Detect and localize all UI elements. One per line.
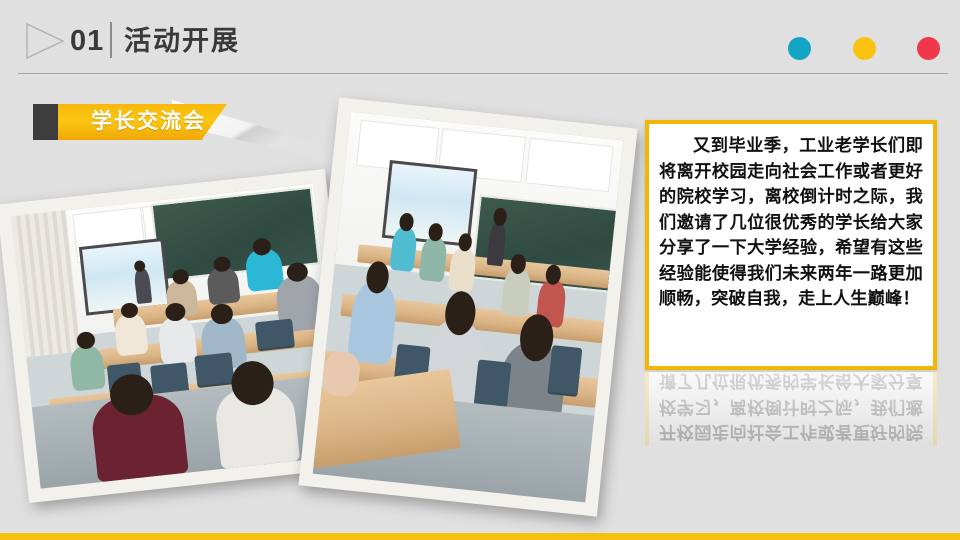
dot-red-icon — [917, 37, 940, 60]
textbox-reflection: 又到毕业季，工业老学长们即将离开校园走向社会工作或者更好的院校学习，离校倒计时之… — [645, 372, 937, 446]
header-separator — [110, 22, 112, 58]
photo-left-image — [11, 183, 343, 488]
classroom-scene-left — [11, 183, 343, 488]
play-triangle-outline-icon — [22, 20, 66, 62]
banner-dark-block — [33, 104, 58, 140]
classroom-scene-right — [313, 112, 624, 503]
page-title: 活动开展 — [124, 19, 240, 63]
photo-classroom-right[interactable] — [298, 97, 637, 516]
section-banner: 学长交流会 — [22, 100, 322, 162]
section-number: 01 — [70, 20, 104, 62]
dot-teal-icon — [788, 37, 811, 60]
description-textbox: 又到毕业季，工业老学长们即将离开校园走向社会工作或者更好的院校学习，离校倒计时之… — [645, 120, 937, 370]
textbox-reflection-text: 又到毕业季，工业老学长们即将离开校园走向社会工作或者更好的院校学习，离校倒计时之… — [659, 372, 923, 446]
slide-header: 01 活动开展 — [0, 0, 960, 80]
banner-label: 学长交流会 — [66, 104, 231, 140]
photo-right-image — [313, 112, 624, 503]
description-text: 又到毕业季，工业老学长们即将离开校园走向社会工作或者更好的院校学习，离校倒计时之… — [659, 133, 923, 312]
slide-canvas: 01 活动开展 学长交流会 — [0, 0, 960, 540]
bottom-accent-bar — [0, 533, 960, 540]
header-divider-line — [18, 73, 948, 74]
dot-yellow-icon — [853, 37, 876, 60]
decorative-dot-group — [751, 37, 940, 60]
